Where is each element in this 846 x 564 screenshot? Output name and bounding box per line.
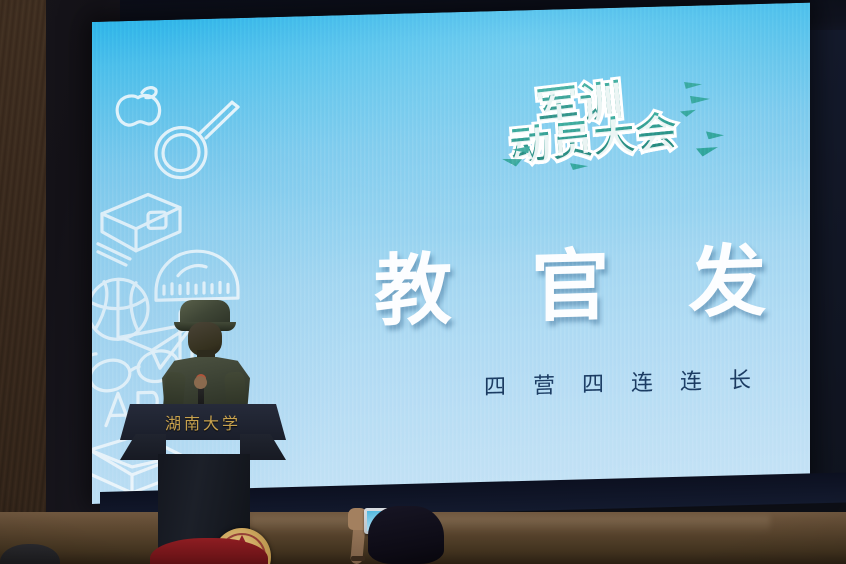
floor-reflection <box>250 516 770 534</box>
speaker-person <box>152 300 258 418</box>
photo-scene: 军训 军训 动员大会 动员大会 教 官 发 言 四 营 四 连 连 长 <box>0 0 846 564</box>
speaker-hand <box>194 376 207 389</box>
audience-photographer <box>330 498 470 564</box>
wristwatch-icon <box>351 556 365 561</box>
podium-university-name: 湖南大学 <box>120 410 286 434</box>
wood-paneling <box>0 0 46 528</box>
audience-head <box>368 506 444 564</box>
